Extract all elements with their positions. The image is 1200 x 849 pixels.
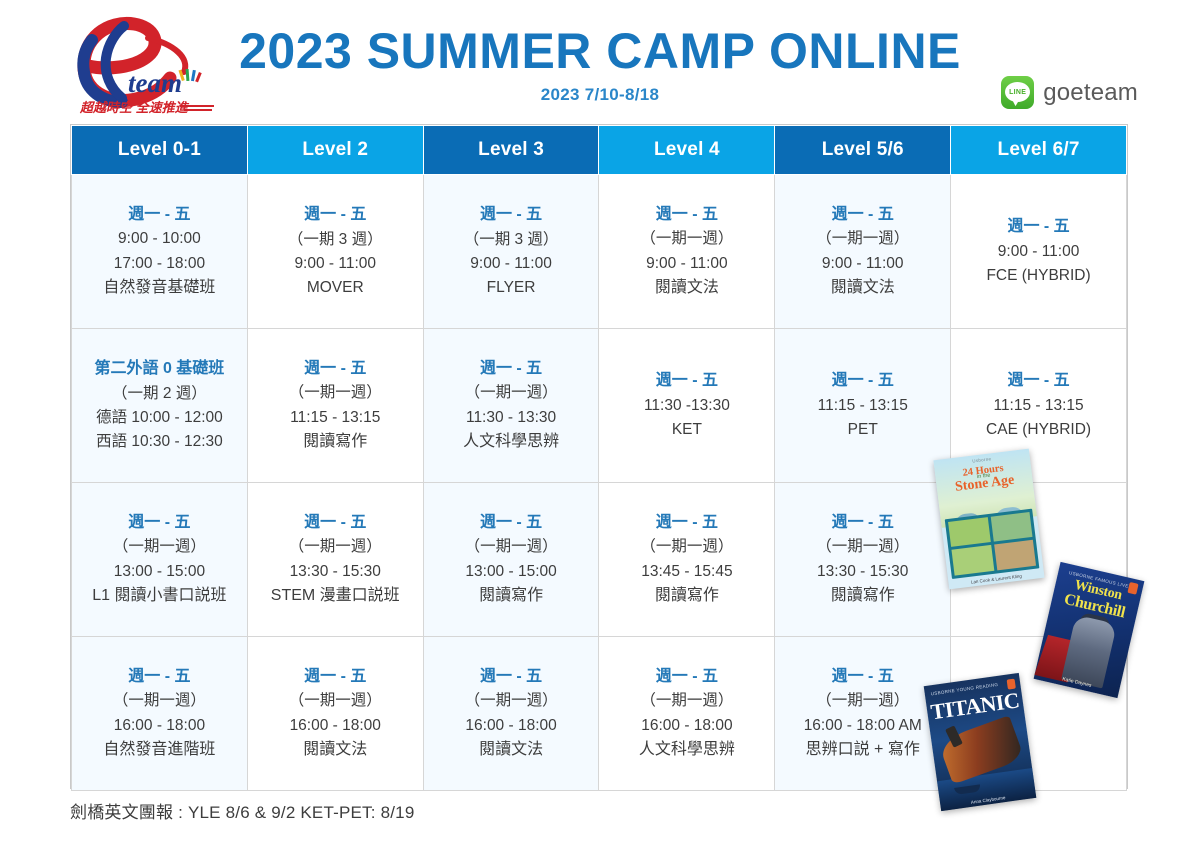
course-day: 週一 - 五 (76, 203, 243, 228)
course-detail: 11:30 - 13:30 (428, 406, 595, 430)
course-detail: （一期一週） (779, 535, 946, 559)
course-day: 週一 - 五 (955, 369, 1122, 394)
book-cover-titanic: USBORNE YOUNG READING TITANIC Anna Clayb… (924, 673, 1037, 811)
course-detail: 11:30 -13:30 (603, 394, 770, 418)
line-badge-label: LINE (1005, 82, 1030, 102)
course-title: 第二外語 0 基礎班 (76, 357, 243, 382)
course-detail: 11:15 - 13:15 (779, 394, 946, 418)
line-bubble-icon: LINE (1005, 82, 1030, 103)
course-detail: 17:00 - 18:00 (76, 252, 243, 276)
line-icon[interactable]: LINE (1001, 76, 1034, 109)
course-cell[interactable]: 週一 - 五 （一期 3 週） 9:00 - 11:00 FLYER (423, 175, 599, 329)
course-detail: （一期一週） (428, 381, 595, 405)
course-name: 閱讀文法 (428, 738, 595, 763)
course-name: FLYER (428, 276, 595, 300)
course-day: 週一 - 五 (428, 203, 595, 228)
course-detail: 西語 10:30 - 12:30 (76, 430, 243, 454)
course-detail: 11:15 - 13:15 (252, 406, 419, 430)
course-name: 閱讀寫作 (428, 584, 595, 609)
course-name: 閱讀文法 (252, 738, 419, 763)
footer-note: 劍橋英文團報 : YLE 8/6 & 9/2 KET-PET: 8/19 (70, 798, 415, 823)
course-cell[interactable]: 週一 - 五 （一期一週） 13:30 - 15:30 閱讀寫作 (775, 483, 951, 637)
course-cell[interactable]: 週一 - 五 （一期一週） 11:15 - 13:15 閱讀寫作 (247, 329, 423, 483)
course-name: 人文科學思辨 (428, 430, 595, 455)
course-cell[interactable]: 週一 - 五 9:00 - 10:00 17:00 - 18:00 自然發音基礎… (72, 175, 248, 329)
course-detail: 13:00 - 15:00 (428, 560, 595, 584)
course-detail: （一期一週） (603, 689, 770, 713)
column-header-level-3: Level 3 (423, 126, 599, 175)
course-detail: 9:00 - 11:00 (779, 252, 946, 276)
course-detail: 16:00 - 18:00 AM (779, 714, 946, 738)
course-name: 自然發音進階班 (76, 738, 243, 763)
column-header-level-0-1: Level 0-1 (72, 126, 248, 175)
course-name: L1 閱讀小書口説班 (76, 584, 243, 609)
course-detail: 德語 10:00 - 12:00 (76, 406, 243, 430)
course-name: 人文科學思辨 (603, 738, 770, 763)
course-day: 週一 - 五 (428, 665, 595, 690)
course-detail: （一期一週） (428, 689, 595, 713)
course-day: 週一 - 五 (252, 665, 419, 690)
course-cell[interactable]: 週一 - 五 （一期一週） 9:00 - 11:00 閱讀文法 (599, 175, 775, 329)
course-cell[interactable]: 週一 - 五 （一期 3 週） 9:00 - 11:00 MOVER (247, 175, 423, 329)
course-detail: 13:00 - 15:00 (76, 560, 243, 584)
course-day: 週一 - 五 (428, 357, 595, 382)
course-detail: 9:00 - 10:00 (76, 227, 243, 251)
column-header-level-2: Level 2 (247, 126, 423, 175)
course-day: 週一 - 五 (603, 665, 770, 690)
course-detail: （一期一週） (252, 381, 419, 405)
course-detail: （一期一週） (603, 535, 770, 559)
course-day: 週一 - 五 (779, 511, 946, 536)
course-name: 自然發音基礎班 (76, 276, 243, 301)
course-name: 思辨口説 + 寫作 (779, 738, 946, 763)
course-cell[interactable]: 週一 - 五 9:00 - 11:00 FCE (HYBRID) (951, 175, 1127, 329)
course-cell[interactable]: 週一 - 五 （一期一週） 13:00 - 15:00 L1 閱讀小書口説班 (72, 483, 248, 637)
course-day: 週一 - 五 (252, 511, 419, 536)
course-cell[interactable]: 週一 - 五 （一期一週） 13:00 - 15:00 閱讀寫作 (423, 483, 599, 637)
course-cell[interactable]: 週一 - 五 （一期一週） 11:30 - 13:30 人文科學思辨 (423, 329, 599, 483)
course-detail: （一期 2 週） (76, 382, 243, 406)
course-cell[interactable]: 週一 - 五 11:30 -13:30 KET (599, 329, 775, 483)
course-day: 週一 - 五 (252, 203, 419, 228)
course-detail: 9:00 - 11:00 (955, 240, 1122, 264)
course-detail: （一期 3 週） (428, 228, 595, 252)
course-detail: （一期一週） (76, 535, 243, 559)
course-detail: 13:45 - 15:45 (603, 560, 770, 584)
course-cell[interactable]: 第二外語 0 基礎班 （一期 2 週） 德語 10:00 - 12:00 西語 … (72, 329, 248, 483)
course-name: 閱讀寫作 (252, 430, 419, 455)
course-cell[interactable]: 週一 - 五 （一期一週） 16:00 - 18:00 人文科學思辨 (599, 637, 775, 791)
column-header-level-5-6: Level 5/6 (775, 126, 951, 175)
column-header-level-4: Level 4 (599, 126, 775, 175)
course-detail: （一期一週） (252, 535, 419, 559)
course-cell[interactable]: 週一 - 五 （一期一週） 9:00 - 11:00 閱讀文法 (775, 175, 951, 329)
course-day: 週一 - 五 (428, 511, 595, 536)
column-header-level-6-7: Level 6/7 (951, 126, 1127, 175)
course-name: 閱讀寫作 (603, 584, 770, 609)
course-cell[interactable]: 週一 - 五 （一期一週） 13:30 - 15:30 STEM 漫畫口説班 (247, 483, 423, 637)
course-cell[interactable]: 週一 - 五 （一期一週） 16:00 - 18:00 AM 思辨口説 + 寫作 (775, 637, 951, 791)
course-cell[interactable]: 週一 - 五 （一期一週） 13:45 - 15:45 閱讀寫作 (599, 483, 775, 637)
course-day: 週一 - 五 (779, 369, 946, 394)
course-day: 週一 - 五 (76, 665, 243, 690)
course-detail: 16:00 - 18:00 (76, 714, 243, 738)
course-name: CAE (HYBRID) (955, 418, 1122, 442)
course-day: 週一 - 五 (779, 203, 946, 228)
course-detail: 9:00 - 11:00 (252, 252, 419, 276)
course-detail: 16:00 - 18:00 (252, 714, 419, 738)
course-day: 週一 - 五 (603, 203, 770, 228)
course-name: STEM 漫畫口説班 (252, 584, 419, 609)
book-cover-stone-age: Usborne 24 Hours in the Stone Age Lan Co… (933, 449, 1044, 590)
course-detail: 11:15 - 13:15 (955, 394, 1122, 418)
course-detail: 9:00 - 11:00 (428, 252, 595, 276)
course-name: 閱讀文法 (779, 276, 946, 301)
course-detail: （一期一週） (428, 535, 595, 559)
course-cell[interactable]: 週一 - 五 （一期一週） 16:00 - 18:00 閱讀文法 (423, 637, 599, 791)
course-detail: （一期一週） (76, 689, 243, 713)
course-cell[interactable]: 週一 - 五 （一期一週） 16:00 - 18:00 自然發音進階班 (72, 637, 248, 791)
course-day: 週一 - 五 (76, 511, 243, 536)
course-day: 週一 - 五 (252, 357, 419, 382)
page-title: 2023 SUMMER CAMP ONLINE (0, 24, 1200, 78)
poster-page: team 超越時空 全速推進 2023 SUMMER CAMP ONLINE 2… (0, 0, 1200, 849)
course-day: 週一 - 五 (603, 369, 770, 394)
course-day: 週一 - 五 (955, 215, 1122, 240)
course-name: PET (779, 418, 946, 442)
course-detail: （一期一週） (603, 227, 770, 251)
course-detail: 16:00 - 18:00 (428, 714, 595, 738)
table-row: 週一 - 五 9:00 - 10:00 17:00 - 18:00 自然發音基礎… (72, 175, 1127, 329)
line-contact[interactable]: LINE goeteam (1001, 76, 1138, 109)
course-detail: 13:30 - 15:30 (779, 560, 946, 584)
course-detail: 13:30 - 15:30 (252, 560, 419, 584)
table-header-row: Level 0-1 Level 2 Level 3 Level 4 Level … (72, 126, 1127, 175)
course-day: 週一 - 五 (779, 665, 946, 690)
course-cell[interactable]: 週一 - 五 11:15 - 13:15 PET (775, 329, 951, 483)
course-detail: （一期一週） (779, 227, 946, 251)
course-day: 週一 - 五 (603, 511, 770, 536)
course-name: 閱讀寫作 (779, 584, 946, 609)
course-detail: （一期一週） (252, 689, 419, 713)
course-detail: 9:00 - 11:00 (603, 252, 770, 276)
course-name: FCE (HYBRID) (955, 264, 1122, 288)
course-cell[interactable]: 週一 - 五 （一期一週） 16:00 - 18:00 閱讀文法 (247, 637, 423, 791)
course-name: MOVER (252, 276, 419, 300)
course-detail: （一期一週） (779, 689, 946, 713)
line-account-label: goeteam (1043, 79, 1138, 107)
course-detail: （一期 3 週） (252, 228, 419, 252)
course-name: KET (603, 418, 770, 442)
course-name: 閱讀文法 (603, 276, 770, 301)
course-detail: 16:00 - 18:00 (603, 714, 770, 738)
poster-header: team 超越時空 全速推進 2023 SUMMER CAMP ONLINE 2… (0, 0, 1200, 118)
